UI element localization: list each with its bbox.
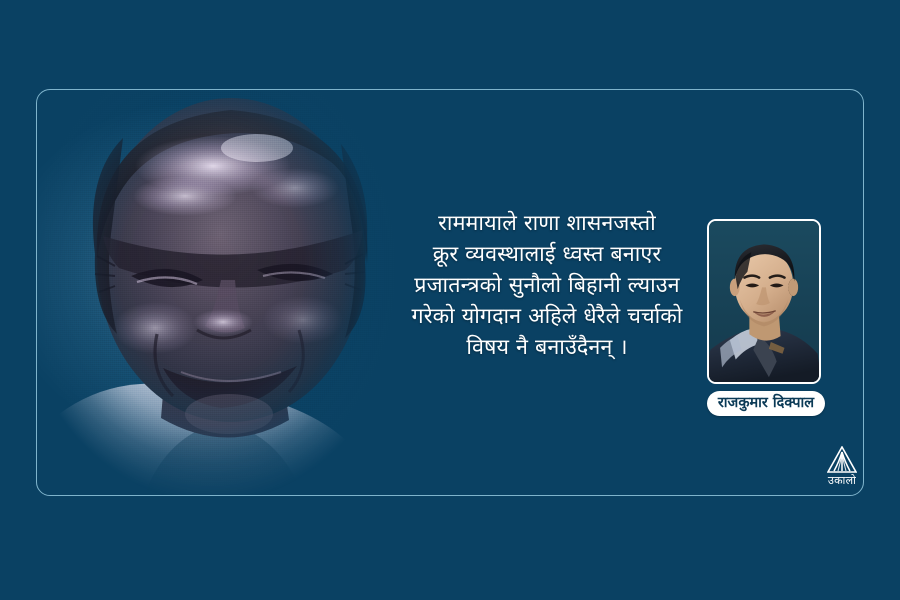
uphill-road-icon	[827, 446, 857, 473]
quote-line: प्रजातन्त्रको सुनौलो बिहानी ल्याउन	[367, 270, 727, 301]
brand-logo: उकालो	[819, 446, 864, 488]
quote-card: राममायाले राणा शासनजस्तो क्रूर व्यवस्थाल…	[36, 89, 864, 496]
speaker-portrait	[707, 219, 821, 384]
speaker-name-badge: राजकुमार दिक्पाल	[707, 391, 825, 416]
speaker-name: राजकुमार दिक्पाल	[716, 394, 816, 412]
quote-line: गरेको योगदान अहिले धेरैले चर्चाको	[367, 301, 727, 332]
speaker-block: राजकुमार दिक्पाल	[707, 219, 825, 416]
brand-name: उकालो	[819, 474, 864, 488]
quote-line: क्रूर व्यवस्थालाई ध्वस्त बनाएर	[367, 239, 727, 270]
quote-line: राममायाले राणा शासनजस्तो	[367, 208, 727, 239]
quote-text: राममायाले राणा शासनजस्तो क्रूर व्यवस्थाल…	[367, 208, 727, 363]
quote-line: विषय नै बनाउँदैनन् ।	[367, 332, 727, 363]
quote-graphic: राममायाले राणा शासनजस्तो क्रूर व्यवस्थाल…	[0, 0, 900, 600]
